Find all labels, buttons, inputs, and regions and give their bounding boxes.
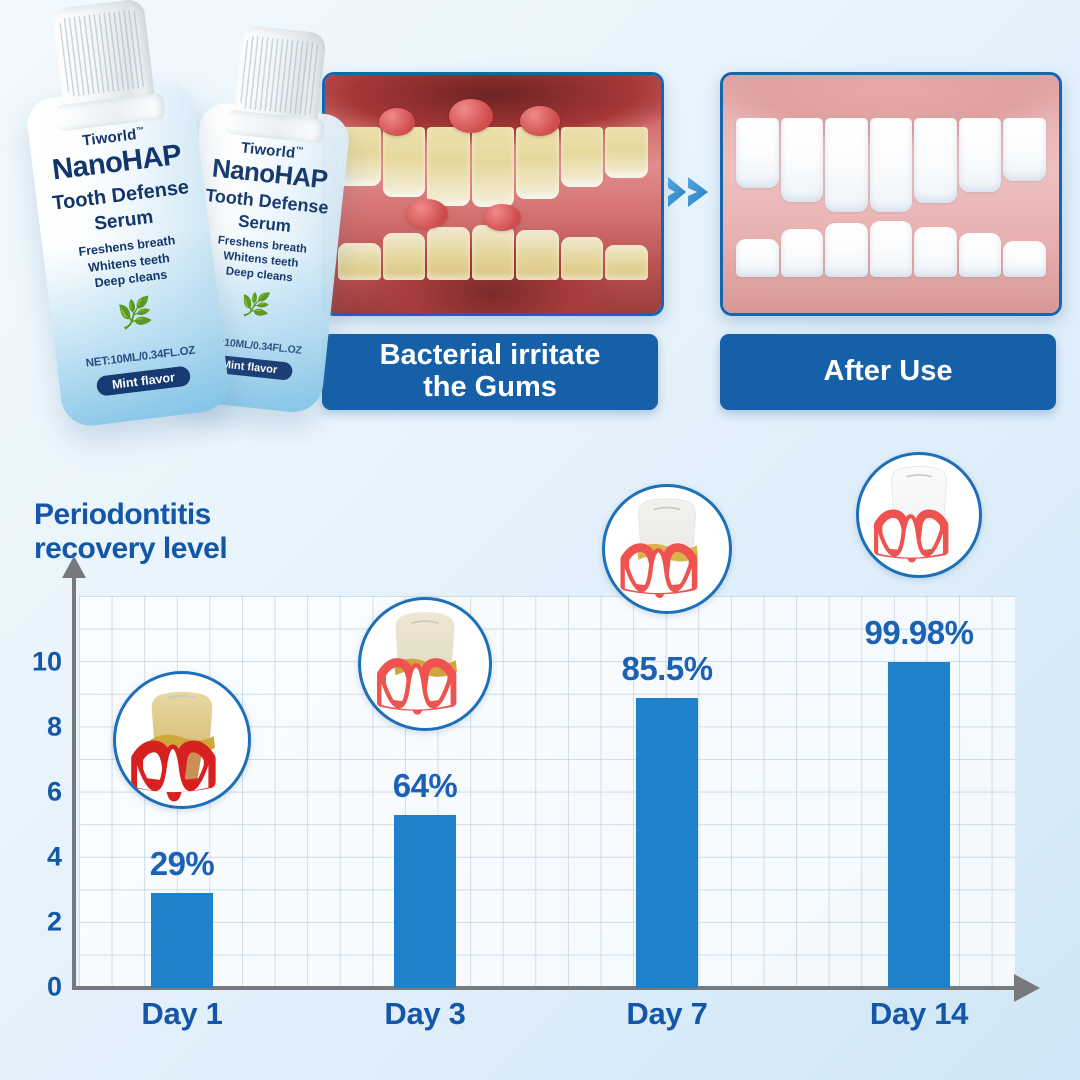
y-axis-tick-labels: 10 8 6 4 2 0	[0, 596, 62, 988]
after-upper-teeth	[736, 118, 1045, 213]
before-caption-box: Bacterial irritate the Gums	[322, 334, 658, 410]
y-tick-6: 6	[47, 777, 62, 808]
after-photo	[720, 72, 1062, 316]
gum-swelling-icon	[520, 106, 560, 136]
before-photo	[322, 72, 664, 316]
chart-x-label-day-1: Day 1	[141, 996, 222, 1032]
gum-swelling-icon	[406, 199, 448, 229]
arrow-right-chevron-icon	[666, 172, 712, 212]
y-tick-4: 4	[47, 842, 62, 873]
before-caption-line-2: the Gums	[380, 372, 601, 404]
tooth-healthy-icon	[856, 452, 982, 578]
x-axis-arrow-icon	[1014, 974, 1040, 1002]
chart-x-label-day-14: Day 14	[870, 996, 968, 1032]
gum-swelling-icon	[483, 204, 521, 231]
chart-x-label-day-7: Day 7	[626, 996, 707, 1032]
before-caption-line-1: Bacterial irritate	[380, 340, 601, 372]
y-tick-2: 2	[47, 907, 62, 938]
after-caption-box: After Use	[720, 334, 1056, 410]
before-upper-teeth	[338, 127, 647, 208]
chart-y-axis	[72, 572, 76, 990]
y-tick-10: 10	[32, 647, 62, 678]
chart-x-axis	[72, 986, 1017, 990]
gum-swelling-icon	[379, 108, 415, 136]
product-bottles-group: Tiworld™ NanoHAP Tooth Defense Serum Fre…	[10, 30, 320, 460]
after-lower-teeth	[736, 211, 1045, 278]
after-caption-text: After Use	[824, 356, 953, 388]
y-tick-0: 0	[47, 972, 62, 1003]
y-tick-8: 8	[47, 712, 62, 743]
gum-swelling-icon	[449, 99, 493, 133]
chart-plot-area	[79, 596, 1015, 988]
chart-x-label-day-3: Day 3	[384, 996, 465, 1032]
tooth-improving-icon	[602, 484, 732, 614]
infographic-root: Tiworld™ NanoHAP Tooth Defense Serum Fre…	[0, 0, 1080, 1080]
chart-title-line-1: Periodontitis	[34, 498, 227, 532]
y-axis-arrow-icon	[62, 556, 86, 578]
